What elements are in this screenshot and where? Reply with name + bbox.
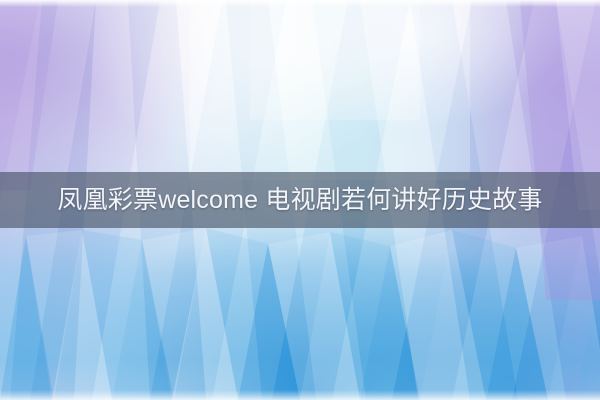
caption-title: 凤凰彩票welcome 电视剧若何讲好历史故事 — [57, 188, 542, 213]
banner-image: 凤凰彩票welcome 电视剧若何讲好历史故事 — [0, 0, 600, 400]
caption-band: 凤凰彩票welcome 电视剧若何讲好历史故事 — [0, 172, 600, 228]
